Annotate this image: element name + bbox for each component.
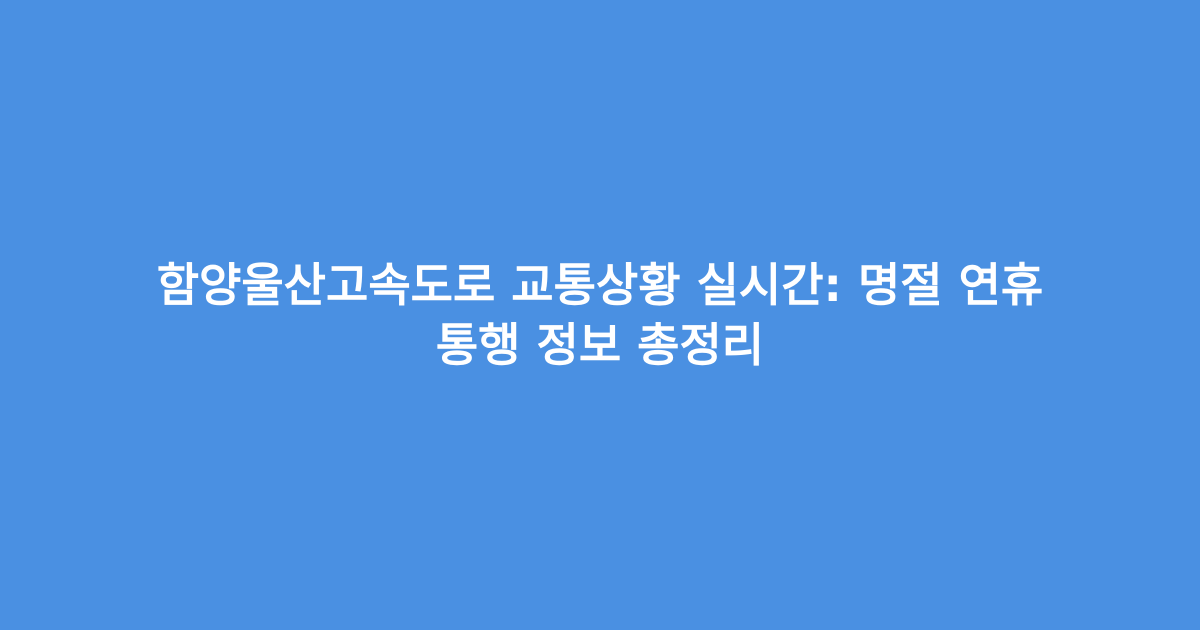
title-block: 함양울산고속도로 교통상황 실시간: 명절 연휴 통행 정보 총정리: [95, 255, 1105, 375]
banner-card: 함양울산고속도로 교통상황 실시간: 명절 연휴 통행 정보 총정리: [0, 0, 1200, 630]
page-title: 함양울산고속도로 교통상황 실시간: 명절 연휴 통행 정보 총정리: [115, 255, 1085, 375]
